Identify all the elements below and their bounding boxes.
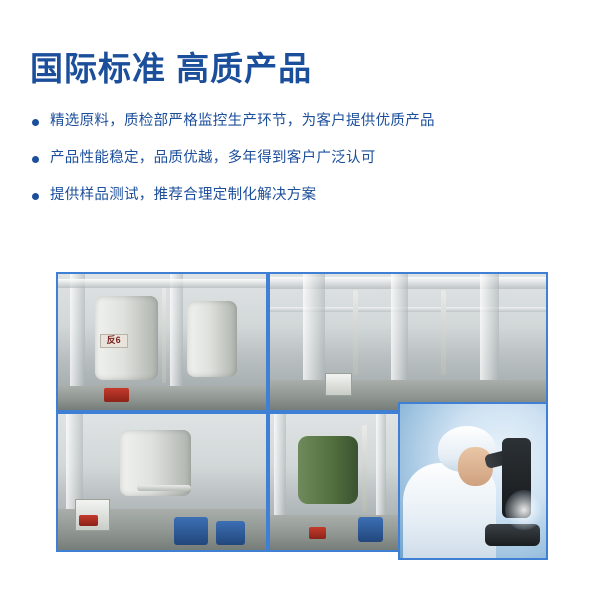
promo-page: 国际标准 高质产品 精选原料，质检部严格监控生产环节，为客户提供优质产品 产品性… [0, 0, 600, 600]
list-item: 精选原料，质检部严格监控生产环节，为客户提供优质产品 [32, 112, 582, 130]
photo-sign-label: 反6 [100, 334, 128, 348]
bullet-text: 产品性能稳定，品质优越，多年得到客户广泛认可 [50, 149, 376, 167]
bullet-dot-icon [32, 193, 39, 200]
page-title: 国际标准 高质产品 [30, 42, 312, 90]
bullet-text: 精选原料，质检部严格监控生产环节，为客户提供优质产品 [50, 112, 435, 130]
bullet-dot-icon [32, 119, 39, 126]
photo-gallery: 反6 [56, 272, 548, 560]
photo-lab-microscope [398, 402, 548, 560]
list-item: 提供样品测试，推荐合理定制化解决方案 [32, 186, 582, 204]
list-item: 产品性能稳定，品质优越，多年得到客户广泛认可 [32, 149, 582, 167]
photo-factory-hall [268, 272, 548, 412]
photo-factory-tanks: 反6 [56, 272, 268, 412]
factory-scene [58, 414, 266, 550]
lab-scene [400, 404, 546, 558]
photo-factory-mixer [56, 412, 268, 552]
factory-scene [270, 274, 546, 410]
factory-scene: 反6 [58, 274, 266, 410]
feature-bullet-list: 精选原料，质检部严格监控生产环节，为客户提供优质产品 产品性能稳定，品质优越，多… [32, 112, 582, 223]
bullet-text: 提供样品测试，推荐合理定制化解决方案 [50, 186, 316, 204]
bullet-dot-icon [32, 156, 39, 163]
